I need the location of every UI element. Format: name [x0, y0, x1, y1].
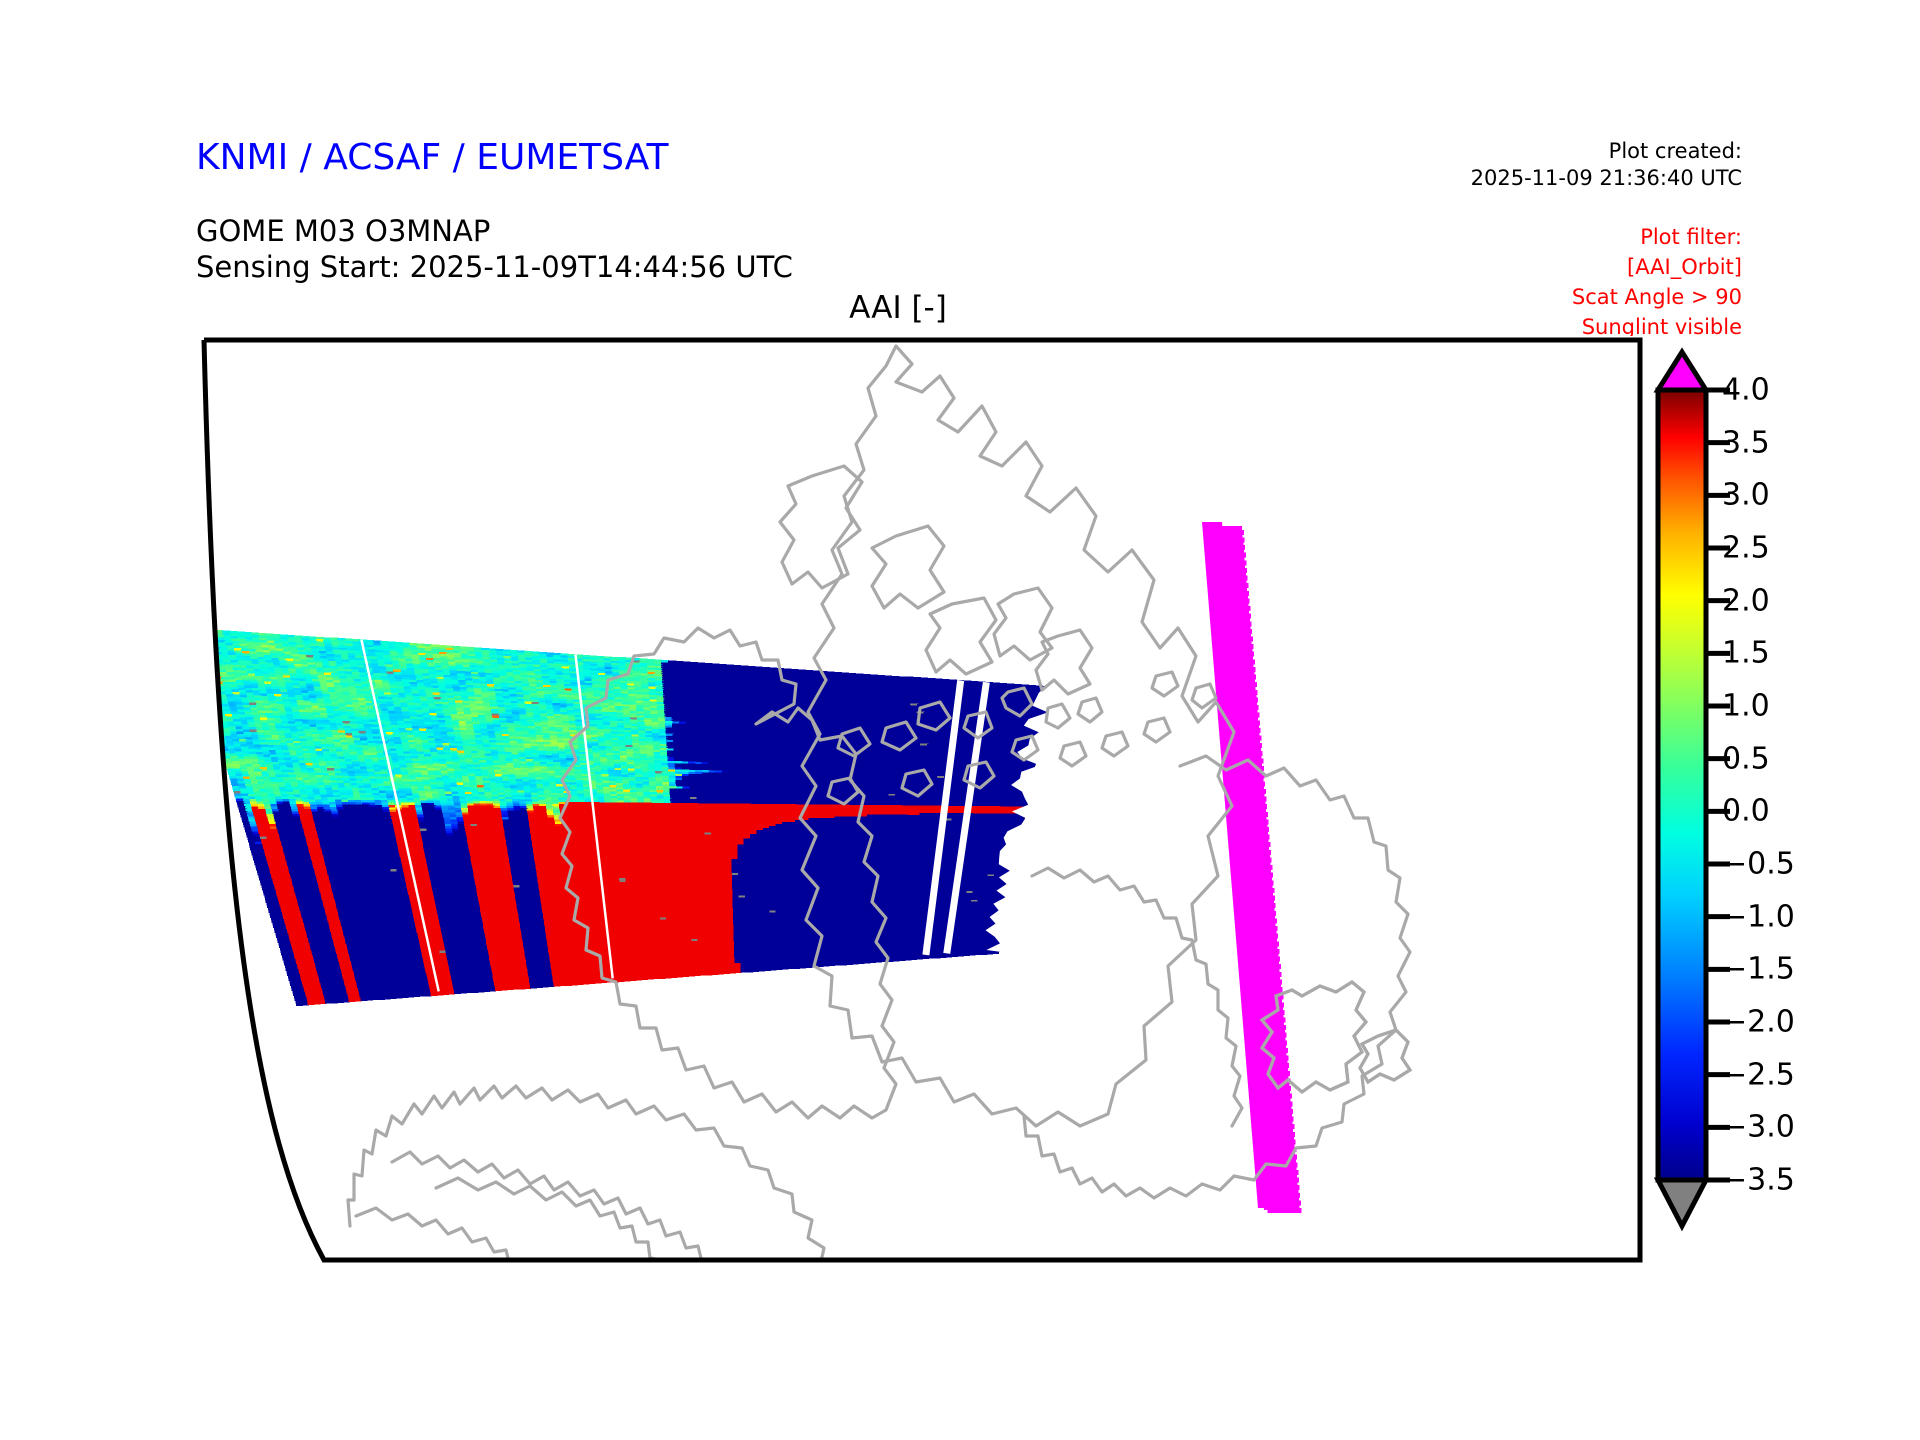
plot-filter-label: Plot filter: [1572, 222, 1742, 252]
plot-title: AAI [-] [0, 290, 1920, 326]
plot-filter-product: [AAI_Orbit] [1572, 252, 1742, 282]
colorbar-tick-label: 0.0 [1722, 794, 1770, 829]
colorbar-tick-label: −2.0 [1722, 1005, 1795, 1040]
colorbar-tick-label: −1.0 [1722, 899, 1795, 934]
colorbar-tick-label: 3.0 [1722, 478, 1770, 513]
colorbar-tick-label: 4.0 [1722, 373, 1770, 408]
plot-created-block: Plot created: 2025-11-09 21:36:40 UTC [1471, 138, 1742, 192]
plot-title-text: AAI [-] [849, 290, 947, 326]
colorbar-tick-label: 0.5 [1722, 741, 1770, 776]
colorbar-under-triangle [1658, 1180, 1706, 1226]
colorbar-over-triangle [1658, 352, 1706, 390]
map-panel [196, 336, 1644, 1270]
map-svg [196, 336, 1644, 1270]
instrument-label: GOME M03 O3MNAP [196, 214, 490, 248]
colorbar-tick-label: −0.5 [1722, 847, 1795, 882]
organisation-title: KNMI / ACSAF / EUMETSAT [196, 137, 668, 178]
plot-page: KNMI / ACSAF / EUMETSAT GOME M03 O3MNAP … [0, 0, 1920, 1440]
colorbar-tick-label: −3.0 [1722, 1110, 1795, 1145]
plot-created-value: 2025-11-09 21:36:40 UTC [1471, 165, 1742, 192]
colorbar-tick-label: 2.5 [1722, 531, 1770, 566]
colorbar-tick-label: −2.5 [1722, 1057, 1795, 1092]
colorbar-tick-label: 3.5 [1722, 425, 1770, 460]
colorbar-tick-label: −3.5 [1722, 1163, 1795, 1198]
colorbar-gradient [1658, 390, 1706, 1180]
plot-created-label: Plot created: [1471, 138, 1742, 165]
sensing-start-label: Sensing Start: 2025-11-09T14:44:56 UTC [196, 250, 793, 284]
colorbar-tick-label: −1.5 [1722, 952, 1795, 987]
colorbar-panel: 4.03.53.02.52.01.51.00.50.0−0.5−1.0−1.5−… [1644, 342, 1884, 1272]
colorbar-tick-label: 2.0 [1722, 583, 1770, 618]
colorbar-tick-label: 1.0 [1722, 689, 1770, 724]
colorbar-tick-label: 1.5 [1722, 636, 1770, 671]
